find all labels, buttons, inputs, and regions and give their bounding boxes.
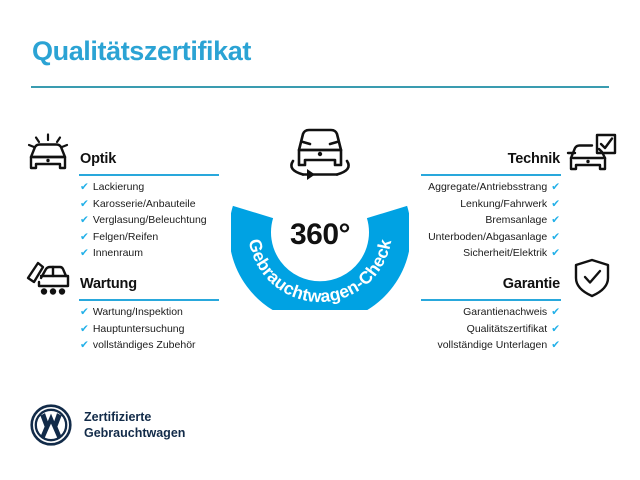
check-icon: ✔ xyxy=(80,231,89,243)
list-item-label: Verglasung/Beleuchtung xyxy=(93,214,207,226)
list-item-label: Felgen/Reifen xyxy=(93,231,158,243)
car-service-icon xyxy=(22,258,74,298)
list-item-label: Garantienachweis xyxy=(463,306,547,318)
section-title-garantie: Garantie xyxy=(503,276,560,292)
list-item: ✔vollständiges Zubehör xyxy=(80,337,272,354)
check-icon: ✔ xyxy=(551,323,560,335)
list-item-label: Karosserie/Anbauteile xyxy=(93,198,196,210)
list-item-label: vollständige Unterlagen xyxy=(437,339,547,351)
check-icon: ✔ xyxy=(551,198,560,210)
car-shine-icon xyxy=(22,133,74,173)
title-divider xyxy=(31,86,609,88)
page-title: Qualitätszertifikat xyxy=(32,36,251,67)
check-icon: ✔ xyxy=(80,339,89,351)
shield-check-icon xyxy=(566,258,618,298)
check-icon: ✔ xyxy=(80,181,89,193)
list-item: Qualitätszertifikat✔ xyxy=(368,321,560,338)
list-item-label: Lenkung/Fahrwerk xyxy=(460,198,547,210)
list-item-label: Wartung/Inspektion xyxy=(93,306,183,318)
check-icon: ✔ xyxy=(80,306,89,318)
check-icon: ✔ xyxy=(551,339,560,351)
check-icon: ✔ xyxy=(80,214,89,226)
check-icon: ✔ xyxy=(551,181,560,193)
section-title-optik: Optik xyxy=(80,151,116,167)
checklist-garantie: Garantienachweis✔ Qualitätszertifikat✔ v… xyxy=(368,304,618,354)
list-item-label: Lackierung xyxy=(93,181,144,193)
section-divider-optik xyxy=(79,174,219,176)
footer-label: Zertifizierte Gebrauchtwagen xyxy=(84,409,185,441)
volkswagen-logo xyxy=(30,404,72,446)
section-divider-garantie xyxy=(421,299,561,301)
list-item-label: vollständiges Zubehör xyxy=(93,339,196,351)
check-icon: ✔ xyxy=(80,323,89,335)
list-item-label: Qualitätszertifikat xyxy=(467,323,548,335)
list-item-label: Aggregate/Antriebsstrang xyxy=(428,181,547,193)
check-icon: ✔ xyxy=(551,214,560,226)
badge-center-label: 360° xyxy=(231,218,409,252)
section-title-technik: Technik xyxy=(508,151,560,167)
checklist-wartung: ✔Wartung/Inspektion ✔Hauptuntersuchung ✔… xyxy=(22,304,272,354)
list-item-label: Hauptuntersuchung xyxy=(93,323,185,335)
check-icon: ✔ xyxy=(551,231,560,243)
section-divider-wartung xyxy=(79,299,219,301)
list-item-label: Bremsanlage xyxy=(485,214,547,226)
list-item: vollständige Unterlagen✔ xyxy=(368,337,560,354)
footer-brand: Zertifizierte Gebrauchtwagen xyxy=(30,404,185,446)
section-divider-technik xyxy=(421,174,561,176)
car-checkbox-icon xyxy=(566,133,618,173)
check-icon: ✔ xyxy=(80,198,89,210)
badge-360-gebrauchtwagen-check: Gebrauchtwagen-Check 360° xyxy=(231,124,409,310)
list-item: ✔Hauptuntersuchung xyxy=(80,321,272,338)
section-title-wartung: Wartung xyxy=(80,276,137,292)
check-icon: ✔ xyxy=(551,306,560,318)
list-item-label: Unterboden/Abgasanlage xyxy=(428,231,547,243)
